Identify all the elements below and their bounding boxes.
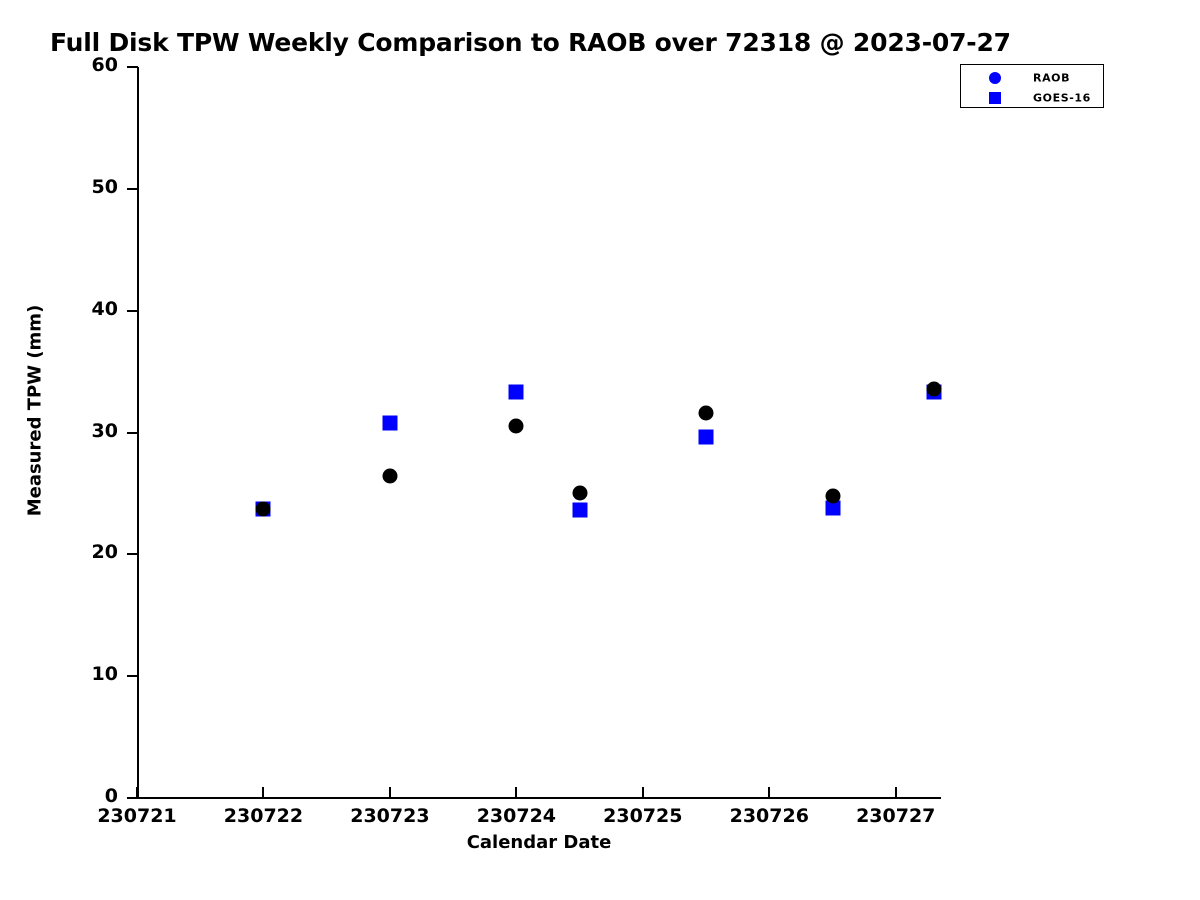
legend-marker-circle-icon xyxy=(989,72,1001,84)
data-point-raob xyxy=(699,406,714,421)
x-axis-tick-label: 230722 xyxy=(224,805,303,827)
y-axis-tick-label: 50 xyxy=(92,176,118,198)
data-point-goes-16 xyxy=(382,415,397,430)
data-point-goes-16 xyxy=(699,430,714,445)
y-axis-tick-label: 20 xyxy=(92,541,118,563)
legend-label: GOES-16 xyxy=(1033,91,1091,104)
data-point-goes-16 xyxy=(572,503,587,518)
y-axis-tick-label: 0 xyxy=(105,785,118,807)
data-point-raob xyxy=(509,419,524,434)
y-axis-label: Measured TPW (mm) xyxy=(25,201,46,621)
x-axis-tick-label: 230723 xyxy=(350,805,429,827)
page-title: Full Disk TPW Weekly Comparison to RAOB … xyxy=(50,28,1011,57)
chart-legend: RAOBGOES-16 xyxy=(960,64,1104,108)
data-point-raob xyxy=(825,488,840,503)
legend-item: RAOB xyxy=(961,67,1105,88)
chart-figure: Full Disk TPW Weekly Comparison to RAOB … xyxy=(0,0,1200,900)
data-point-raob xyxy=(572,486,587,501)
x-axis-tick-label: 230721 xyxy=(97,805,176,827)
y-axis-tick-label: 40 xyxy=(92,298,118,320)
x-axis-label: Calendar Date xyxy=(137,832,941,853)
data-point-raob xyxy=(382,469,397,484)
y-axis-tick-label: 10 xyxy=(92,663,118,685)
x-axis-tick-label: 230725 xyxy=(603,805,682,827)
legend-label: RAOB xyxy=(1033,71,1070,84)
legend-marker-square-icon xyxy=(989,92,1001,104)
x-axis-tick-label: 230727 xyxy=(856,805,935,827)
legend-item: GOES-16 xyxy=(961,87,1105,108)
data-point-goes-16 xyxy=(509,385,524,400)
x-axis-tick-label: 230726 xyxy=(730,805,809,827)
y-axis-tick-label: 30 xyxy=(92,420,118,442)
data-point-raob xyxy=(256,502,271,517)
x-axis-tick-label: 230724 xyxy=(477,805,556,827)
data-point-raob xyxy=(926,381,941,396)
plot-area xyxy=(137,67,940,798)
y-axis-tick-label: 60 xyxy=(92,54,118,76)
